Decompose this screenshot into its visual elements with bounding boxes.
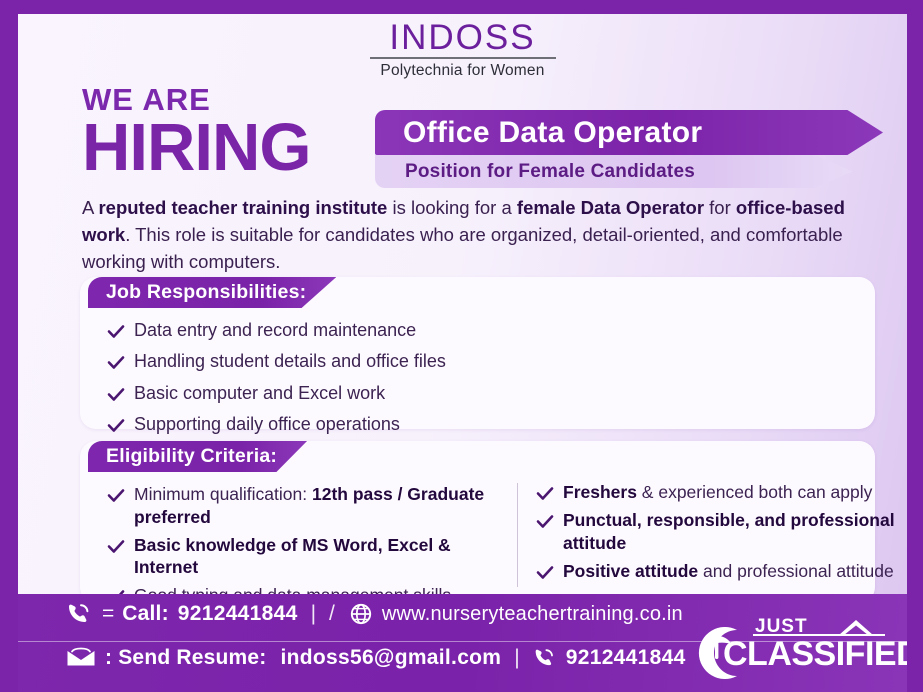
resume-label: : Send Resume: (105, 646, 267, 670)
email-separator: | (514, 646, 519, 670)
job-poster: INDOSS Polytechnia for Women WE ARE HIRI… (0, 0, 923, 692)
intro-part-3: for (704, 197, 736, 218)
eligibility-tab-label: Eligibility Criteria: (106, 445, 277, 468)
check-icon (535, 563, 555, 583)
list-item: Basic knowledge of MS Word, Excel & Inte… (106, 534, 501, 580)
roof-icon (835, 616, 877, 643)
list-item: Supporting daily office operations (106, 413, 846, 436)
email-address[interactable]: indoss56@gmail.com (281, 646, 502, 670)
list-item-label: Basic computer and Excel work (134, 382, 385, 405)
brand-name: INDOSS (18, 20, 907, 56)
role-subtitle: Position for Female Candidates (405, 161, 695, 183)
list-item: Handling student details and office file… (106, 350, 846, 373)
footer-row-call: = Call: 9212441844 | / www.nurseryteache… (66, 602, 683, 626)
list-item-label: Data entry and record maintenance (134, 319, 416, 342)
intro-part-2: is looking for a (387, 197, 517, 218)
check-icon (106, 385, 126, 405)
list-item: Positive attitude and professional attit… (535, 560, 907, 583)
list-item: Freshers & experienced both can apply (535, 481, 907, 504)
brand-logo: INDOSS Polytechnia for Women (18, 14, 907, 80)
item-bold: Punctual, responsible, and professional … (563, 510, 895, 553)
role-banner: Office Data Operator Position for Female… (375, 110, 883, 188)
column-divider (517, 483, 518, 587)
brand-tagline: Polytechnia for Women (18, 62, 907, 80)
eligibility-tab: Eligibility Criteria: (88, 441, 307, 472)
eligibility-card: Eligibility Criteria: Minimum qualificat… (80, 441, 875, 603)
list-item: Basic computer and Excel work (106, 382, 846, 405)
list-item-label: Positive attitude and professional attit… (563, 560, 894, 583)
list-item-label: Minimum qualification: 12th pass / Gradu… (134, 483, 501, 529)
role-title: Office Data Operator (403, 116, 702, 150)
check-icon (106, 353, 126, 373)
item-plain-1: Minimum qualification: (134, 484, 312, 504)
call-number[interactable]: 9212441844 (178, 602, 298, 626)
footer-divider (18, 641, 907, 642)
website-url[interactable]: www.nurseryteachertraining.co.in (382, 603, 683, 626)
intro-paragraph: A reputed teacher training institute is … (82, 194, 868, 275)
list-item: Punctual, responsible, and professional … (535, 509, 907, 555)
check-icon (106, 486, 126, 506)
responsibilities-card: Job Responsibilities: Data entry and rec… (80, 277, 875, 429)
check-icon (535, 512, 555, 532)
intro-bold-1: reputed teacher training institute (98, 197, 387, 218)
eligibility-left-list: Minimum qualification: 12th pass / Gradu… (106, 483, 501, 612)
check-icon (106, 416, 126, 436)
check-icon (106, 537, 126, 557)
phone-icon (66, 602, 93, 626)
list-item-label: Handling student details and office file… (134, 350, 446, 373)
role-title-band: Office Data Operator (375, 110, 883, 155)
list-item-label: Supporting daily office operations (134, 413, 400, 436)
envelope-icon (66, 647, 96, 669)
intro-part-1: A (82, 197, 98, 218)
list-item-label: Punctual, responsible, and professional … (563, 509, 907, 555)
intro-bold-2: female Data Operator (517, 197, 704, 218)
contact-footer: = Call: 9212441844 | / www.nurseryteache… (18, 594, 907, 692)
responsibilities-tab-label: Job Responsibilities: (106, 281, 306, 304)
list-item-label: Basic knowledge of MS Word, Excel & Inte… (134, 534, 501, 580)
watermark-rule (753, 634, 885, 636)
footer-slash: / (329, 602, 335, 626)
poster-inner: INDOSS Polytechnia for Women WE ARE HIRI… (18, 14, 907, 692)
list-item: Minimum qualification: 12th pass / Gradu… (106, 483, 501, 529)
item-bold: Freshers (563, 482, 637, 502)
item-bold: Positive attitude (563, 561, 698, 581)
responsibilities-list: Data entry and record maintenance Handli… (106, 319, 846, 445)
intro-part-4: . This role is suitable for candidates w… (82, 224, 843, 272)
watermark-just-classified: JUST CLASSIFIED (675, 610, 897, 684)
footer-separator: | (311, 602, 316, 626)
watermark-top-word: JUST (755, 616, 808, 638)
check-icon (106, 322, 126, 342)
responsibilities-tab: Job Responsibilities: (88, 277, 336, 308)
globe-icon (349, 602, 373, 626)
list-item: Data entry and record maintenance (106, 319, 846, 342)
item-plain: & experienced both can apply (637, 482, 872, 502)
headline-line-2: HIRING (82, 117, 311, 179)
phone-number-secondary[interactable]: 9212441844 (566, 646, 686, 670)
call-colon: = (102, 602, 114, 626)
list-item-label: Freshers & experienced both can apply (563, 481, 872, 504)
hiring-headline: WE ARE HIRING (82, 84, 311, 179)
item-bold: Basic knowledge of MS Word, Excel & Inte… (134, 535, 451, 578)
item-plain: and professional attitude (698, 561, 894, 581)
phone-icon-secondary (533, 647, 557, 669)
check-icon (535, 484, 555, 504)
call-label: Call: (122, 602, 169, 626)
footer-row-email: : Send Resume: indoss56@gmail.com | 9212… (66, 646, 686, 670)
watermark-swoosh-icon (685, 622, 751, 689)
role-subtitle-band: Position for Female Candidates (375, 155, 853, 188)
eligibility-right-list: Freshers & experienced both can apply Pu… (535, 481, 907, 588)
